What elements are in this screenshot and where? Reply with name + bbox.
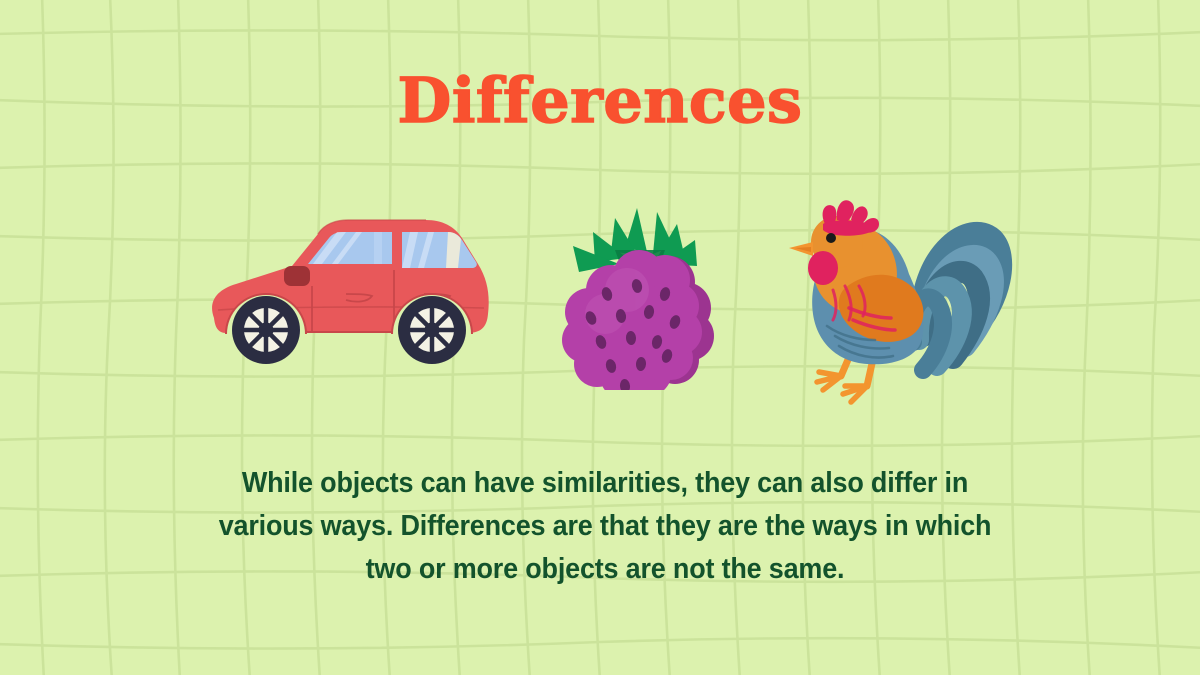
rooster-tail: [912, 235, 999, 370]
rooster-comb: [823, 200, 879, 236]
body-paragraph: While objects can have similarities, the…: [214, 462, 995, 591]
rooster-feet: [817, 372, 867, 402]
berry-illustration: [545, 190, 735, 390]
rooster-illustration: [775, 190, 1015, 410]
page-title: Differences: [0, 68, 1200, 133]
car-illustration: [196, 190, 496, 390]
car-rear-wheel: [398, 296, 466, 364]
illustration-row: [0, 190, 1200, 420]
slide-canvas: Differences: [0, 0, 1200, 675]
car-front-wheel: [232, 296, 300, 364]
